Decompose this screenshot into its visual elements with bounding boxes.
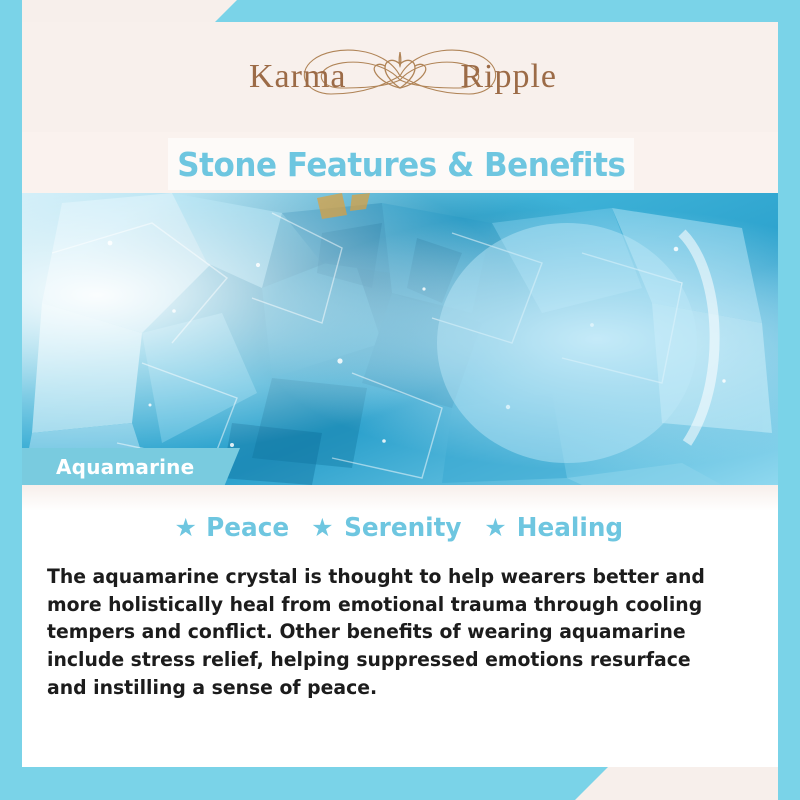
infographic-card: Karma Ripple Stone Features & Benefits [0, 0, 800, 800]
keyword-item: ★ Healing [484, 513, 625, 543]
keyword-item: ★ Peace [174, 513, 291, 543]
right-accent-band [778, 0, 800, 800]
page-title: Stone Features & Benefits [177, 145, 625, 184]
star-icon: ★ [174, 516, 196, 541]
keyword-label: Healing [516, 513, 622, 543]
keyword-label: Peace [206, 513, 289, 543]
brand-name-right: Ripple [460, 58, 557, 96]
section-title-banner: Stone Features & Benefits [168, 138, 634, 190]
content-section: ★ Peace ★ Serenity ★ Healing The aquamar… [22, 485, 778, 767]
top-accent-band [215, 0, 800, 22]
stone-description: The aquamarine crystal is thought to hel… [47, 563, 732, 701]
brand-logo: Karma Ripple [235, 40, 565, 114]
stone-name-label: Aquamarine [56, 455, 194, 479]
keyword-item: ★ Serenity [311, 513, 464, 543]
star-icon: ★ [311, 516, 333, 541]
left-accent-band [0, 0, 22, 800]
star-icon: ★ [484, 516, 506, 541]
keyword-label: Serenity [344, 513, 461, 543]
brand-name-left: Karma [249, 58, 347, 96]
bottom-accent-band [0, 765, 610, 800]
keyword-row: ★ Peace ★ Serenity ★ Healing [22, 513, 778, 543]
stone-name-tag: Aquamarine [22, 448, 240, 485]
brand-header: Karma Ripple [22, 22, 778, 132]
content-fade [22, 485, 778, 511]
stone-photo [22, 193, 778, 485]
